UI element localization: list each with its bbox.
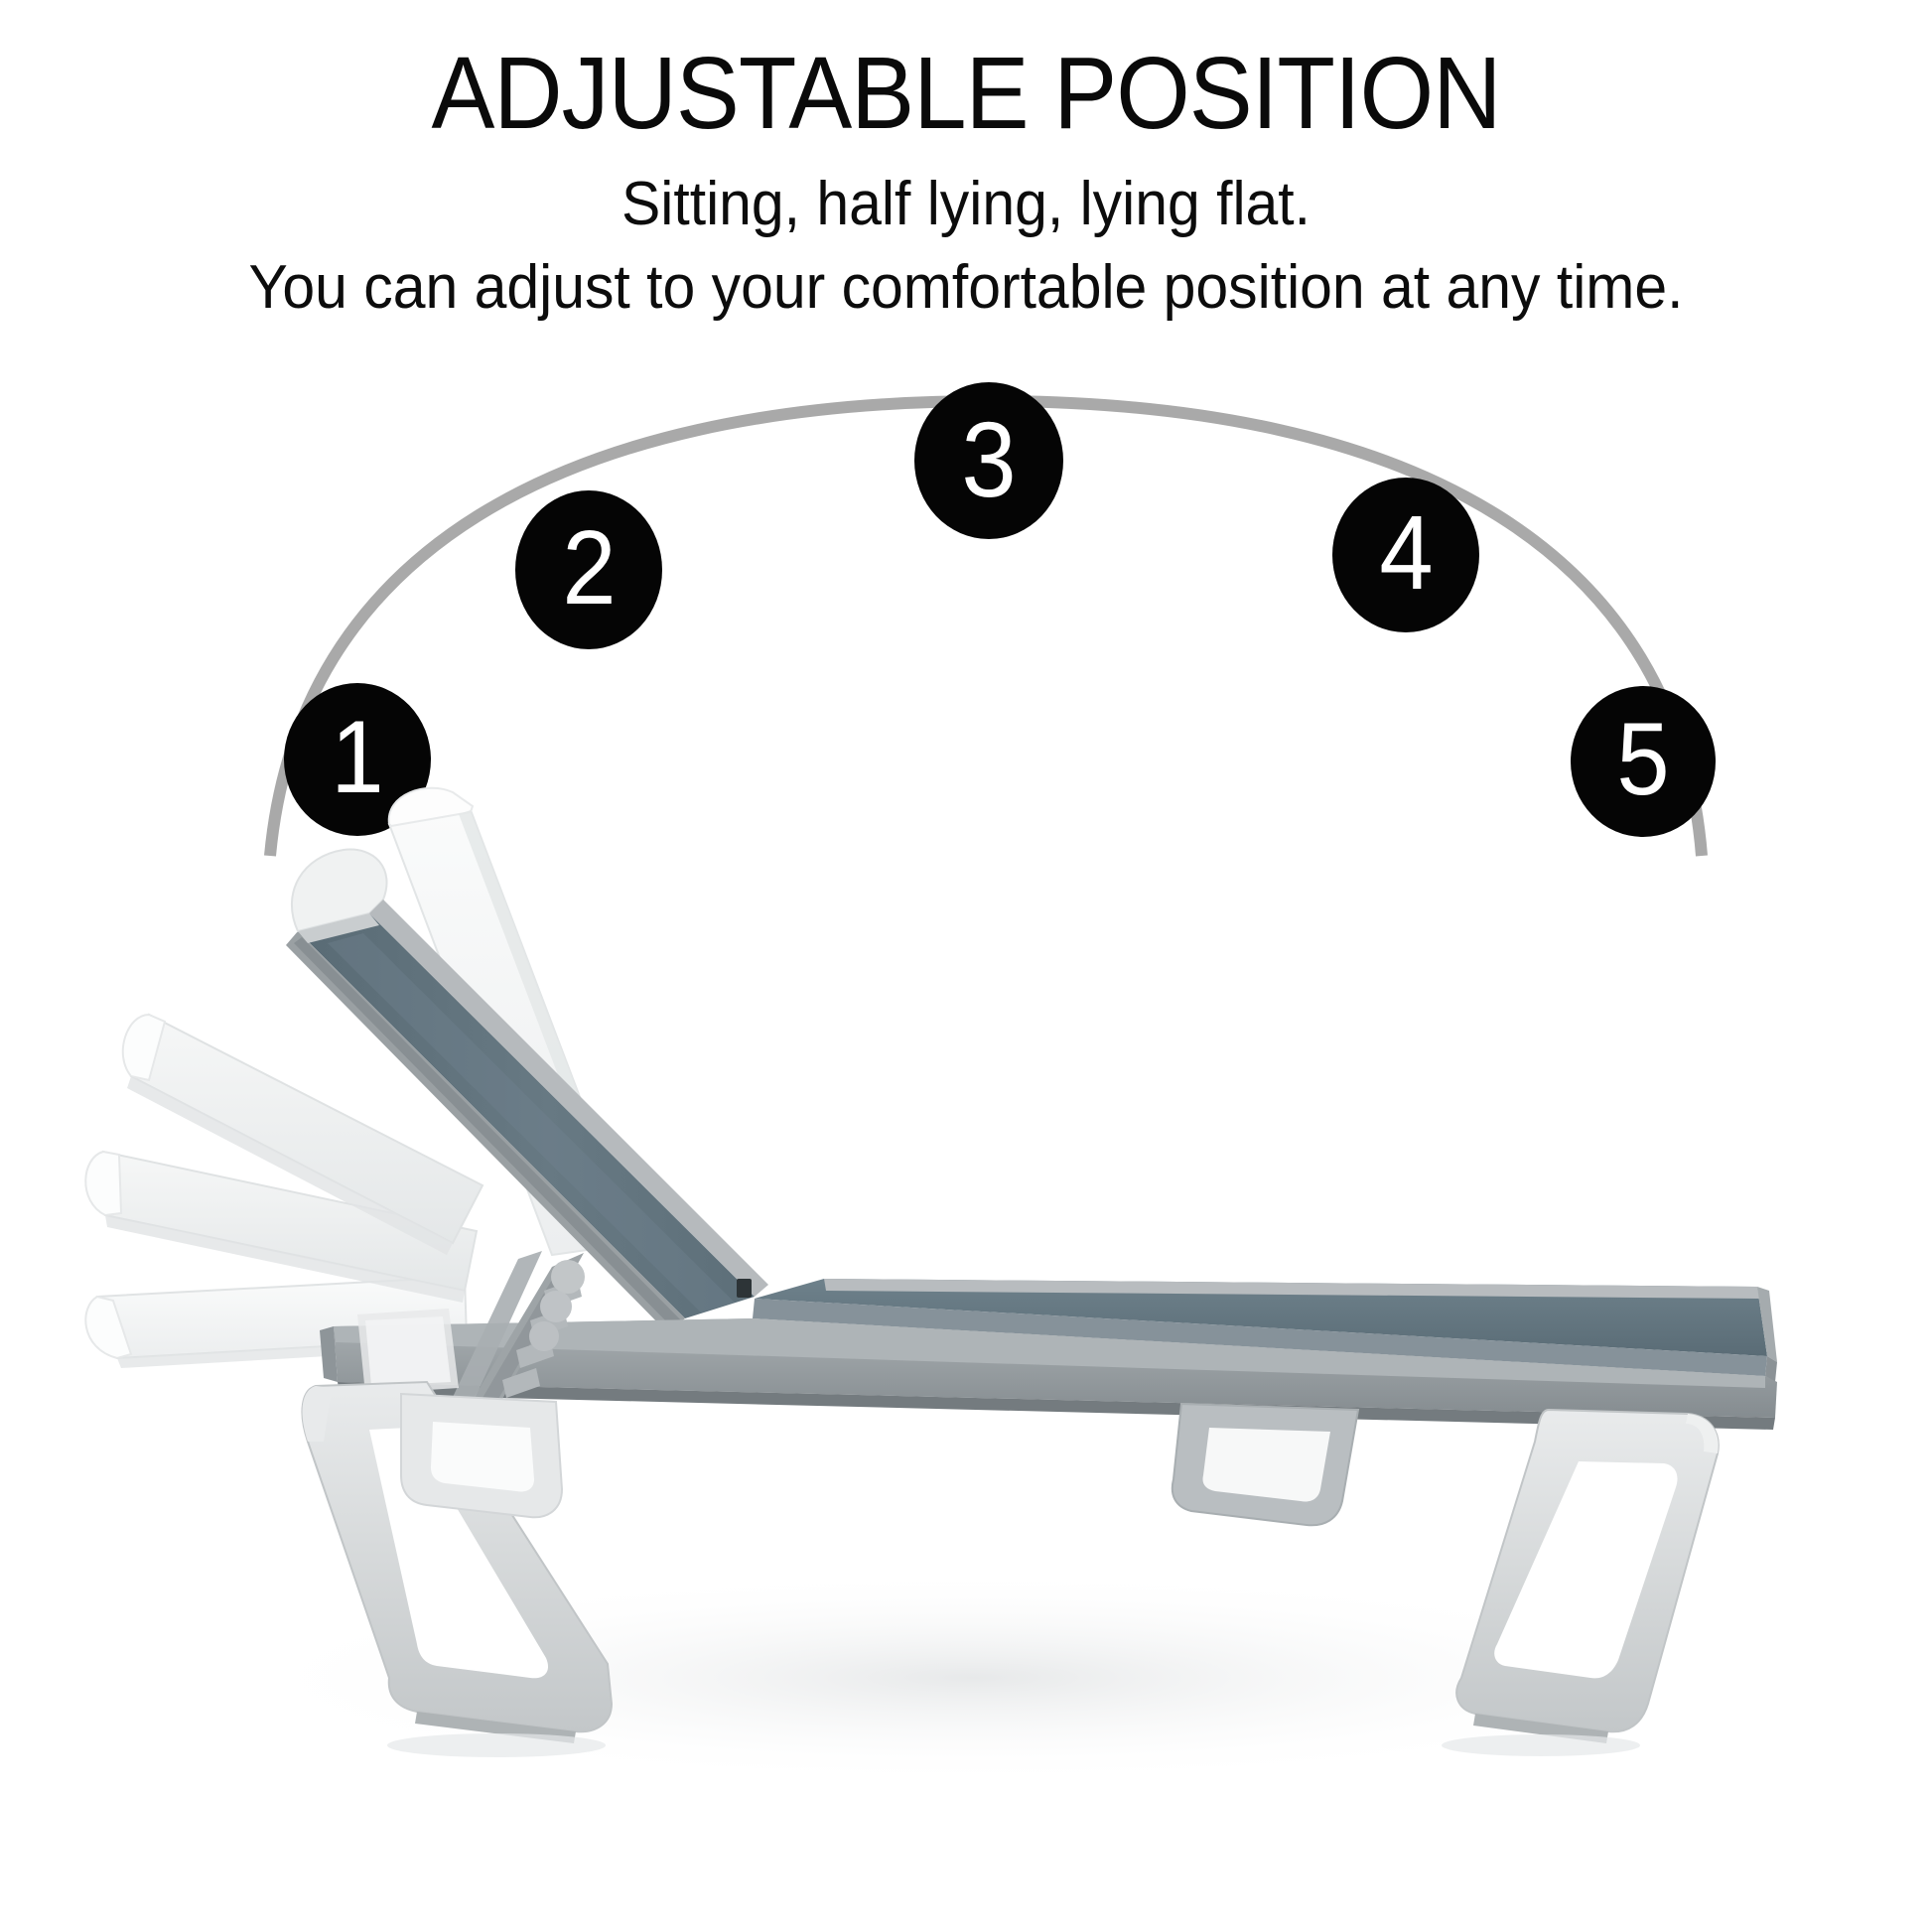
product-illustration bbox=[0, 0, 1932, 1932]
rear-foot-shadow bbox=[1442, 1734, 1640, 1756]
infographic-page: ADJUSTABLE POSITION Sitting, half lying,… bbox=[0, 0, 1932, 1932]
far-side-leg-braces bbox=[401, 1394, 1358, 1525]
chaise-lounge-svg bbox=[0, 0, 1932, 1932]
front-foot-shadow bbox=[387, 1733, 606, 1757]
